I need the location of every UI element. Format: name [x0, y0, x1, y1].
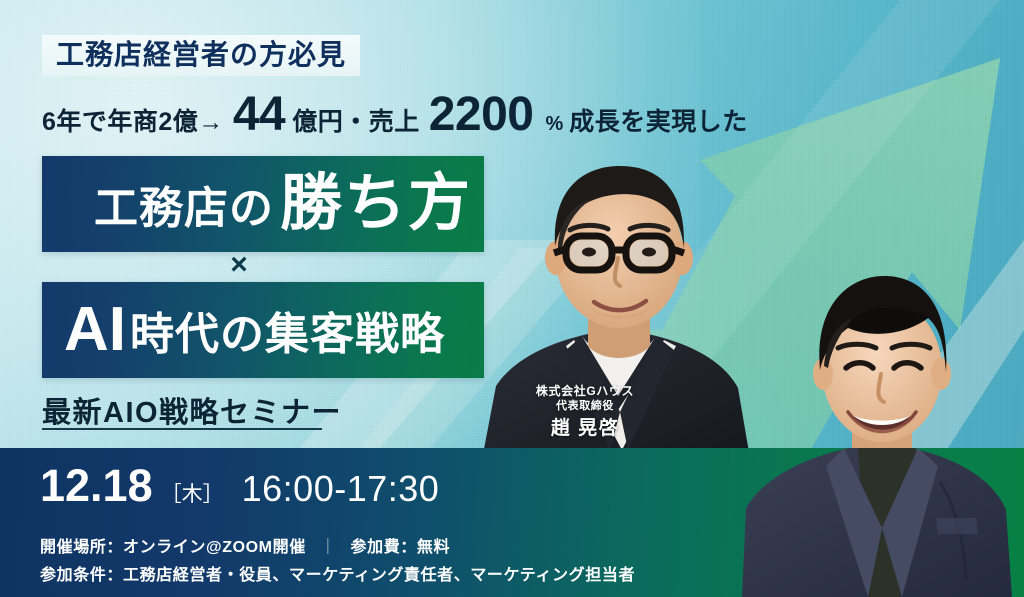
- event-day-of-week: ［木］: [153, 478, 228, 508]
- event-datetime: 12.18 ［木］ 16:00-17:30: [40, 463, 439, 510]
- headline: 6年で年商2億→ 44 億円・売上 2200 % 成長を実現した: [42, 93, 748, 138]
- title-bar-ai-strategy: AI 時代の集客戦略: [42, 282, 484, 378]
- event-fee: 参加費：無料: [351, 539, 451, 556]
- headline-percent: %: [541, 113, 570, 136]
- speaker-1-name: 趙 晃啓: [505, 414, 665, 442]
- headline-number-2: 2200: [420, 93, 541, 136]
- event-time: 16:00-17:30: [228, 468, 440, 510]
- headline-tail: 成長を実現した: [569, 102, 748, 138]
- audience-badge: 工務店経営者の方必見: [42, 35, 360, 76]
- headline-mid: 億円・売上: [292, 102, 420, 138]
- seminar-banner: 工務店経営者の方必見 6年で年商2億→ 44 億円・売上 2200 % 成長を実…: [0, 0, 1024, 597]
- cross-separator-icon: ×: [224, 250, 254, 280]
- event-venue: 開催場所：オンライン@ZOOM開催: [40, 539, 306, 556]
- title-1-big: 勝ち方: [274, 173, 472, 235]
- headline-lead: 6年で年商2億→: [42, 102, 224, 138]
- title-2-lead: AI: [64, 299, 126, 361]
- event-venue-row: 開催場所：オンライン@ZOOM開催 ｜ 参加費：無料: [40, 533, 450, 557]
- event-date: 12.18: [40, 463, 153, 508]
- headline-number-1: 44: [224, 93, 292, 136]
- subtitle-underline: [42, 428, 322, 430]
- speaker-photo-2-overlap: [740, 448, 1020, 597]
- title-bar-win-method: 工務店の 勝ち方: [42, 156, 484, 252]
- title-1-small: 工務店の: [94, 172, 274, 236]
- speaker-1-company: 株式会社Gハウス: [505, 383, 665, 399]
- speaker-caption-1: 株式会社Gハウス 代表取締役 趙 晃啓: [505, 383, 665, 442]
- event-audience: 参加条件：工務店経営者・役員、マーケティング責任者、マーケティング担当者: [40, 561, 635, 585]
- seminar-subtitle: 最新AIO戦略セミナー: [42, 389, 342, 431]
- info-separator: ｜: [311, 539, 346, 556]
- title-2-rest: 時代の集客戦略: [126, 298, 445, 362]
- speaker-1-role: 代表取締役: [505, 399, 665, 414]
